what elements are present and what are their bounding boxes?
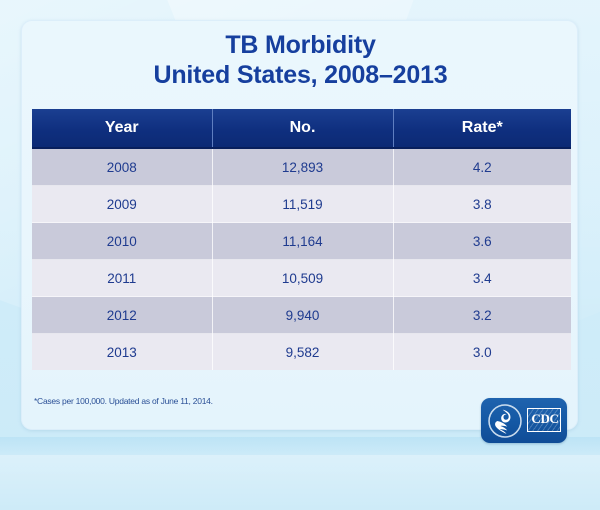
cell-year: 2008	[32, 148, 212, 186]
footnote: *Cases per 100,000. Updated as of June 1…	[34, 396, 213, 406]
cell-year: 2013	[32, 334, 212, 371]
cdc-logo: CDC	[481, 398, 567, 443]
table-row: 2011 10,509 3.4	[32, 260, 571, 297]
cell-year: 2010	[32, 223, 212, 260]
table-row: 2010 11,164 3.6	[32, 223, 571, 260]
column-header-year: Year	[32, 109, 212, 148]
cell-no: 9,940	[212, 297, 393, 334]
cell-year: 2011	[32, 260, 212, 297]
cell-rate: 3.2	[393, 297, 571, 334]
table-row: 2008 12,893 4.2	[32, 148, 571, 186]
table-header-row: Year No. Rate*	[32, 109, 571, 148]
cell-rate: 4.2	[393, 148, 571, 186]
table-header: Year No. Rate*	[32, 109, 571, 148]
cell-year: 2012	[32, 297, 212, 334]
hhs-bird-icon	[486, 402, 524, 440]
cell-year: 2009	[32, 186, 212, 223]
background-band-bottom	[0, 455, 600, 510]
cell-rate: 3.6	[393, 223, 571, 260]
column-header-rate: Rate*	[393, 109, 571, 148]
page-title: TB Morbidity United States, 2008–2013	[22, 30, 579, 90]
cell-no: 9,582	[212, 334, 393, 371]
cell-no: 10,509	[212, 260, 393, 297]
cell-no: 11,519	[212, 186, 393, 223]
table-row: 2013 9,582 3.0	[32, 334, 571, 371]
table-body: 2008 12,893 4.2 2009 11,519 3.8 2010 11,…	[32, 148, 571, 370]
page-title-line-1: TB Morbidity	[22, 30, 579, 60]
tb-morbidity-table: Year No. Rate* 2008 12,893 4.2 2009 11,5…	[32, 109, 571, 370]
column-header-no: No.	[212, 109, 393, 148]
page-title-line-2: United States, 2008–2013	[22, 60, 579, 90]
content-card: TB Morbidity United States, 2008–2013 Ye…	[21, 20, 578, 430]
cell-rate: 3.0	[393, 334, 571, 371]
table-row: 2012 9,940 3.2	[32, 297, 571, 334]
cdc-wordmark-box: CDC	[527, 408, 561, 432]
cell-no: 12,893	[212, 148, 393, 186]
slide-canvas: TB Morbidity United States, 2008–2013 Ye…	[0, 0, 600, 510]
table-row: 2009 11,519 3.8	[32, 186, 571, 223]
cell-no: 11,164	[212, 223, 393, 260]
cdc-wordmark: CDC	[528, 411, 562, 427]
cell-rate: 3.4	[393, 260, 571, 297]
cell-rate: 3.8	[393, 186, 571, 223]
